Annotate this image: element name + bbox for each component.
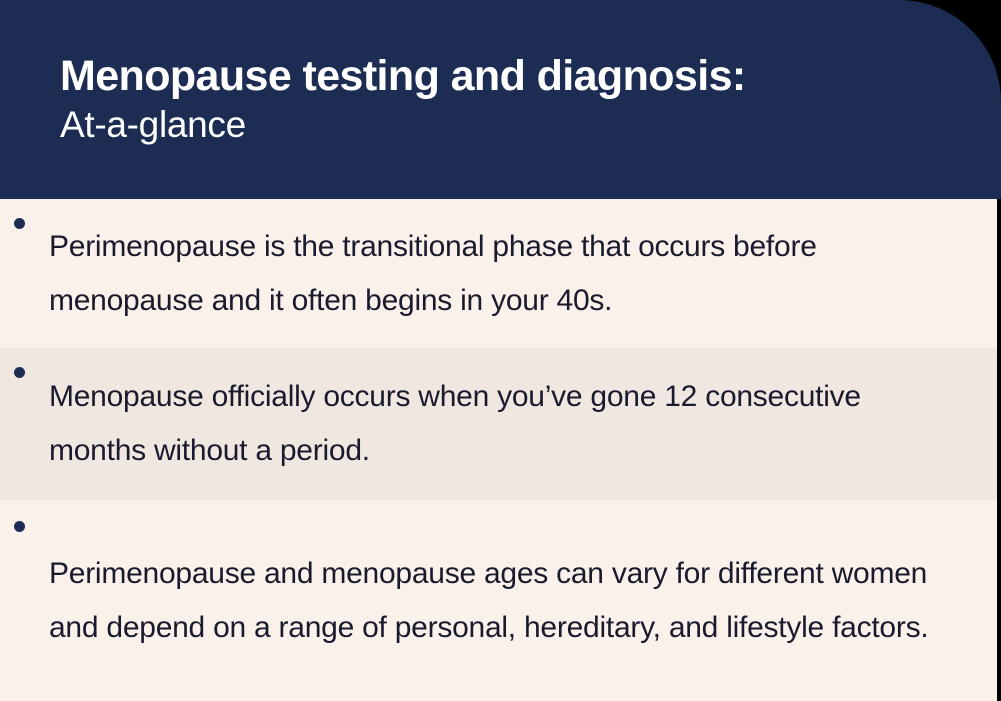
page-title: Menopause testing and diagnosis: (60, 52, 746, 101)
page-subtitle: At-a-glance (60, 103, 246, 147)
list-item-text: Menopause officially occurs when you’ve … (49, 370, 963, 478)
list-item-text: Perimenopause and menopause ages can var… (49, 547, 963, 655)
bullet-dot-icon (14, 218, 25, 229)
list-item: Perimenopause and menopause ages can var… (0, 500, 997, 701)
key-points-list: Perimenopause is the transitional phase … (0, 199, 997, 701)
bullet-dot-icon (14, 367, 25, 378)
list-item: Perimenopause is the transitional phase … (0, 199, 997, 348)
menopause-at-a-glance-infocard: Menopause testing and diagnosis: At-a-gl… (0, 0, 1001, 701)
card-header: Menopause testing and diagnosis: At-a-gl… (0, 0, 1001, 199)
list-item: Menopause officially occurs when you’ve … (0, 348, 997, 500)
list-item-text: Perimenopause is the transitional phase … (49, 220, 963, 328)
right-edge-strip (997, 199, 1001, 701)
bullet-dot-icon (14, 521, 25, 532)
